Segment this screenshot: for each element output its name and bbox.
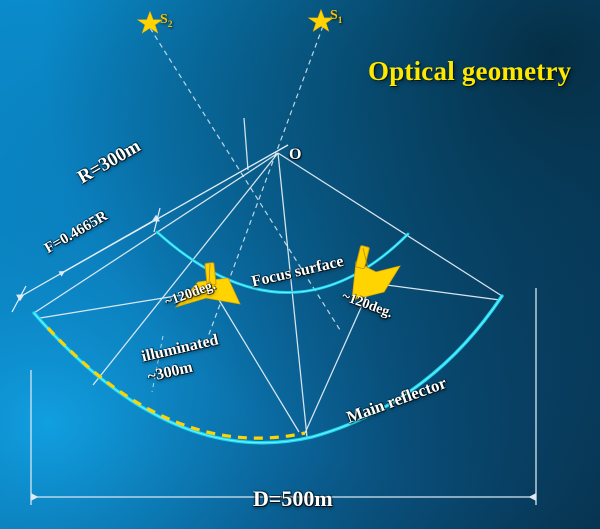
illum-edge-right: [278, 153, 307, 437]
feed-cabin-left-mast: [205, 263, 216, 286]
main-reflector-arc-glow: [34, 296, 502, 443]
cone-edge-d: [305, 283, 372, 433]
dim-ext-focal-2: [12, 286, 26, 312]
illum-edge-left: [93, 153, 278, 385]
cone-edge-b: [213, 290, 299, 432]
main-reflector-arc: [34, 296, 502, 443]
optical-geometry-figure: Optical geometry S2 S1 O R=300m F=0.4665…: [0, 0, 600, 529]
geometry-layer: [0, 0, 600, 529]
radius-line-left: [34, 153, 278, 313]
star-s1-icon: [308, 9, 334, 31]
illum-guide: [152, 336, 163, 392]
dim-tick-o: [244, 118, 248, 170]
cone-edge-c: [372, 283, 500, 300]
dim-line-focal: [18, 218, 158, 298]
star-s2-icon: [137, 11, 163, 33]
illuminated-arc: [48, 328, 305, 438]
feed-cabin-right[interactable]: [352, 245, 400, 300]
